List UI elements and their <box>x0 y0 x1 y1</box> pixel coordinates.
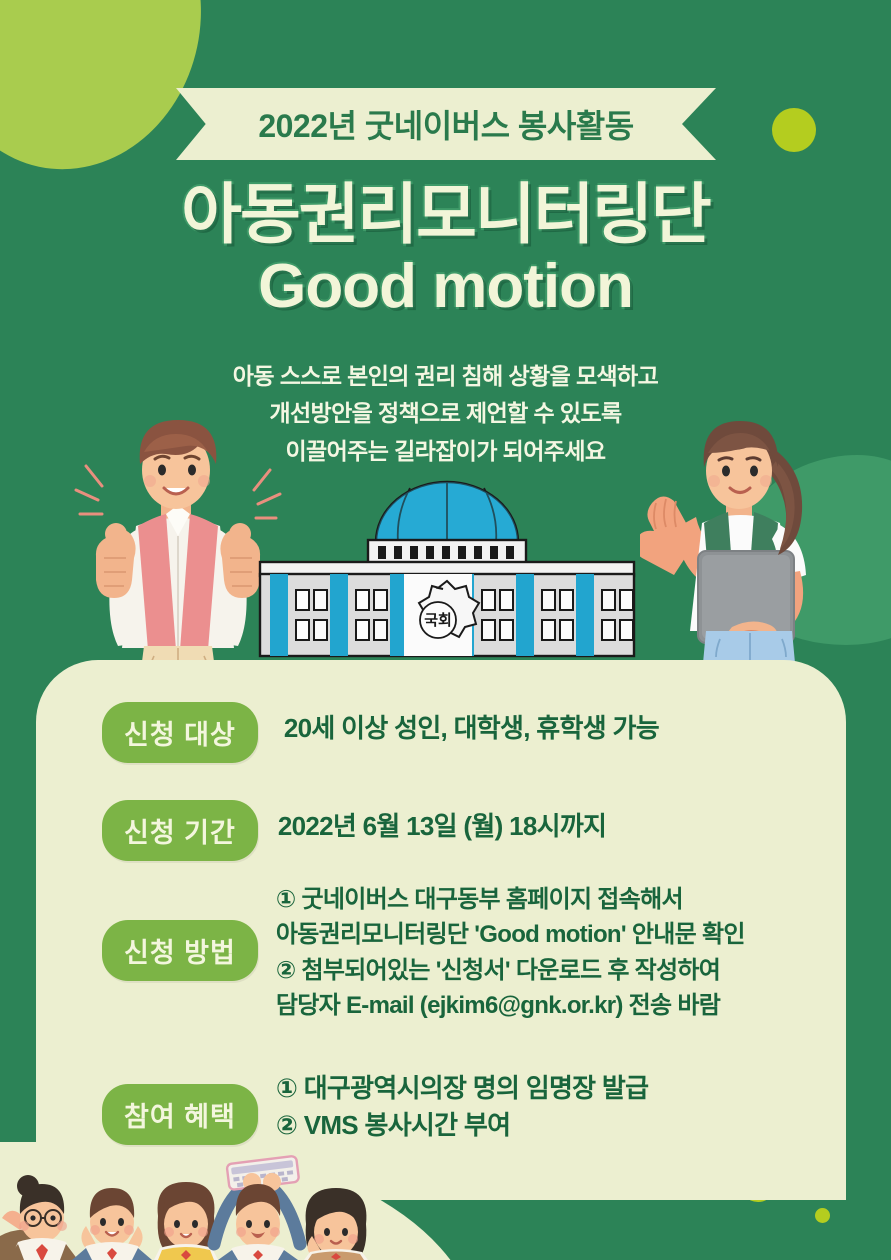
info-row-period: 신청 기간 2022년 6월 13일 (월) 18시까지 <box>102 800 606 861</box>
building-emblem-text: 국회 <box>424 612 452 629</box>
illustration-national-assembly-building: 국회 <box>258 478 636 658</box>
value-method-line-3: ② 첨부되어있는 '신청서' 다운로드 후 작성하여 <box>276 953 745 988</box>
info-card: 신청 대상 20세 이상 성인, 대학생, 휴학생 가능 신청 기간 2022년… <box>36 660 846 1200</box>
circle-decoration-top-right <box>772 108 816 152</box>
value-benefit-line-1: ① 대구광역시의장 명의 임명장 발급 <box>276 1070 649 1107</box>
child-3 <box>154 1182 218 1260</box>
info-row-method: 신청 방법 ① 굿네이버스 대구동부 홈페이지 접속해서 아동권리모니터링단 '… <box>102 882 745 1023</box>
title-english: Good motion <box>0 255 891 319</box>
subtitle-line-1: 아동 스스로 본인의 권리 침해 상황을 모색하고 <box>0 358 891 395</box>
label-benefit: 참여 혜택 <box>102 1084 258 1145</box>
child-4 <box>214 1156 300 1260</box>
label-method: 신청 방법 <box>102 920 258 981</box>
value-benefit: ① 대구광역시의장 명의 임명장 발급 ② VMS 봉사시간 부여 <box>276 1070 649 1144</box>
value-target: 20세 이상 성인, 대학생, 휴학생 가능 <box>284 710 659 747</box>
value-target-line-1: 20세 이상 성인, 대학생, 휴학생 가능 <box>284 710 659 747</box>
child-2 <box>72 1188 152 1260</box>
illustration-woman-waving <box>640 405 855 695</box>
ribbon-label: 2022년 굿네이버스 봉사활동 <box>258 101 633 147</box>
value-period: 2022년 6월 13일 (월) 18시까지 <box>278 808 606 845</box>
label-period: 신청 기간 <box>102 800 258 861</box>
page-title: 아동권리모니터링단 Good motion <box>0 180 891 319</box>
child-1 <box>0 1175 78 1260</box>
value-method-line-4: 담당자 E-mail (ejkim6@gnk.or.kr) 전송 바람 <box>276 988 745 1023</box>
child-5 <box>304 1188 368 1260</box>
value-benefit-line-2: ② VMS 봉사시간 부여 <box>276 1107 649 1144</box>
value-method-line-2: 아동권리모니터링단 'Good motion' 안내문 확인 <box>276 917 745 952</box>
info-row-benefit: 참여 혜택 ① 대구광역시의장 명의 임명장 발급 ② VMS 봉사시간 부여 <box>102 1070 648 1145</box>
ribbon-banner: 2022년 굿네이버스 봉사활동 <box>176 88 716 160</box>
poster: 2022년 굿네이버스 봉사활동 아동권리모니터링단 Good motion 아… <box>0 0 891 1260</box>
value-period-line-1: 2022년 6월 13일 (월) 18시까지 <box>278 808 606 845</box>
label-target: 신청 대상 <box>102 702 258 763</box>
value-method-line-1: ① 굿네이버스 대구동부 홈페이지 접속해서 <box>276 882 745 917</box>
illustration-children-group <box>0 1140 400 1260</box>
title-korean: 아동권리모니터링단 <box>0 180 891 249</box>
value-method: ① 굿네이버스 대구동부 홈페이지 접속해서 아동권리모니터링단 'Good m… <box>276 882 745 1023</box>
info-row-target: 신청 대상 20세 이상 성인, 대학생, 휴학생 가능 <box>102 702 659 763</box>
circle-decoration-bottom-right-small <box>815 1208 830 1223</box>
